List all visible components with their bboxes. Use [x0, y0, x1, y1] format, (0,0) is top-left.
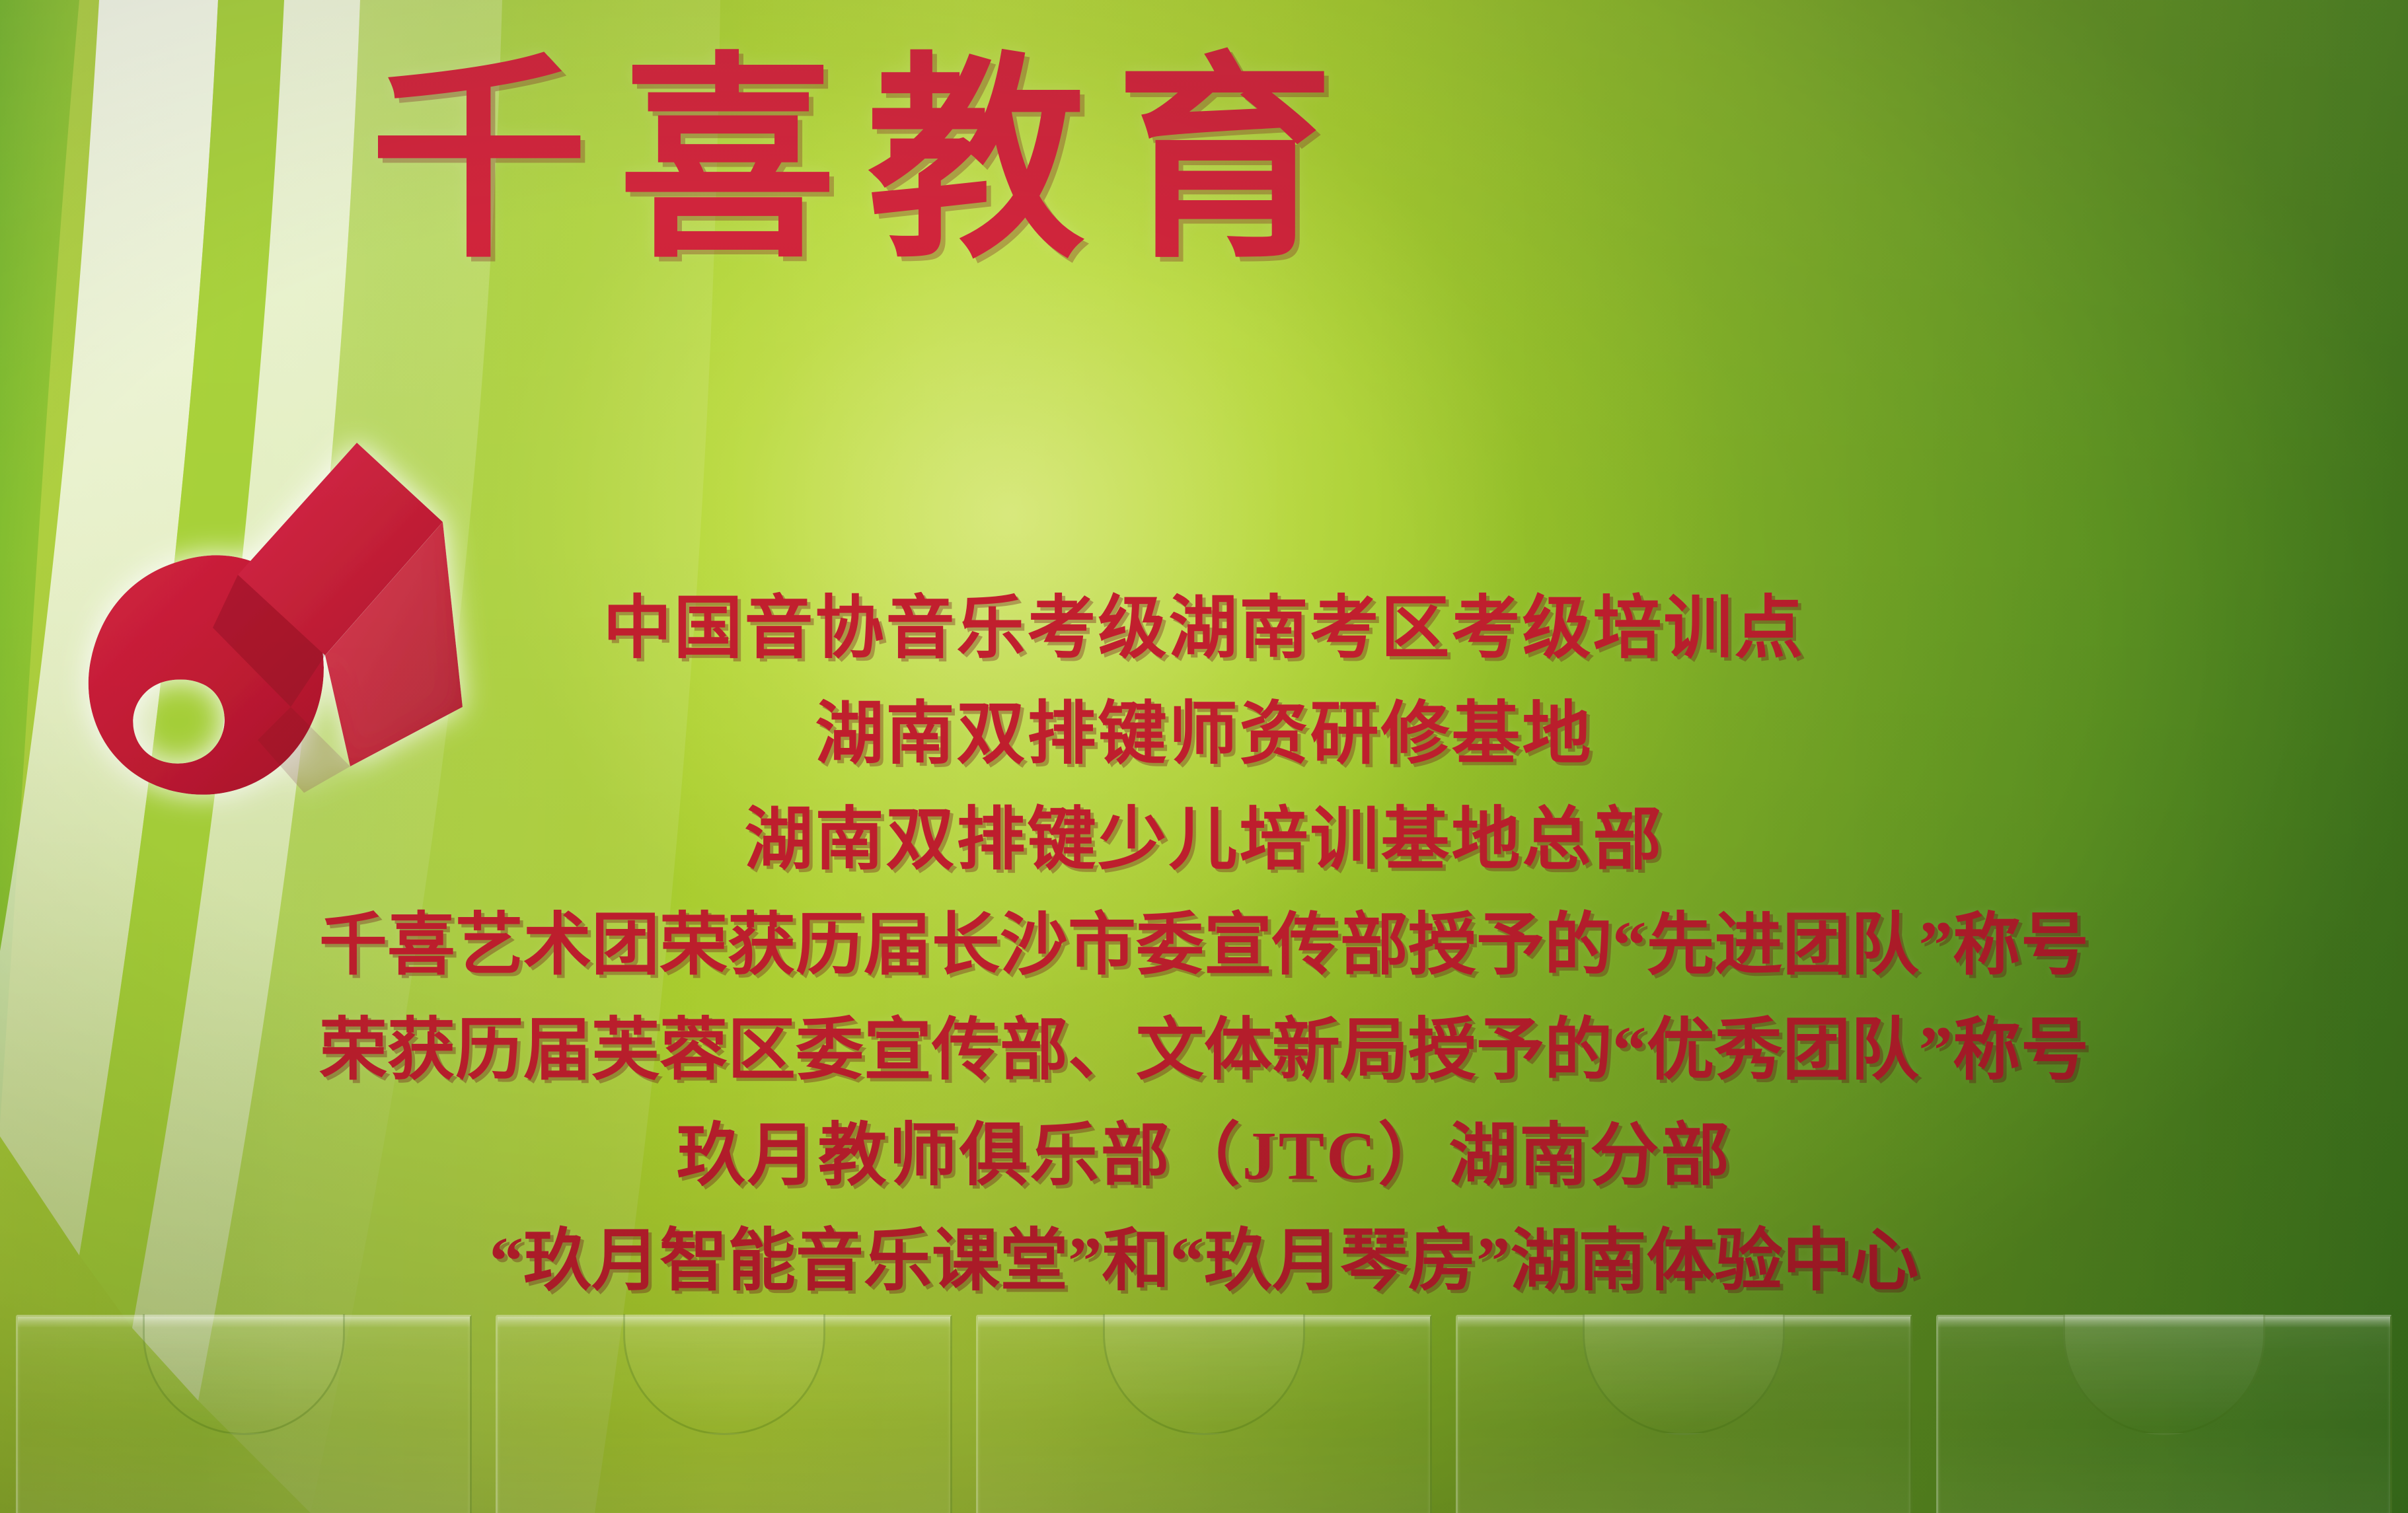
pocket-lip	[1938, 1317, 2390, 1327]
page-title: 千喜教育	[370, 50, 2286, 276]
signboard: 千喜教育 中国音协音乐考级湖南考区考级培训点 湖南双排键师资研修基地 湖南双排键…	[0, 0, 2408, 1513]
credential-line: 荣获历届芙蓉区委宣传部、文体新局授予的“优秀团队”称号	[0, 1017, 2408, 1085]
acrylic-brochure-pocket[interactable]	[1936, 1315, 2392, 1513]
acrylic-brochure-pocket[interactable]	[976, 1315, 1432, 1513]
credential-line: 玖月教师俱乐部（JTC）湖南分部	[0, 1122, 2408, 1191]
acrylic-brochure-pocket[interactable]	[1456, 1315, 1912, 1513]
credential-line: 湖南双排键少儿培训基地总部	[0, 806, 2408, 875]
pocket-lip	[1458, 1317, 1910, 1327]
credential-line: 中国音协音乐考级湖南考区考级培训点	[0, 595, 2408, 663]
pocket-lip	[978, 1317, 1430, 1327]
credential-list: 中国音协音乐考级湖南考区考级培训点 湖南双排键师资研修基地 湖南双排键少儿培训基…	[0, 595, 2408, 1296]
credential-line: 千喜艺术团荣获历届长沙市委宣传部授予的“先进团队”称号	[0, 912, 2408, 980]
credential-line: “玖月智能音乐课堂”和“玖月琴房”湖南体验中心	[0, 1228, 2408, 1296]
credential-line: 湖南双排键师资研修基地	[0, 700, 2408, 769]
